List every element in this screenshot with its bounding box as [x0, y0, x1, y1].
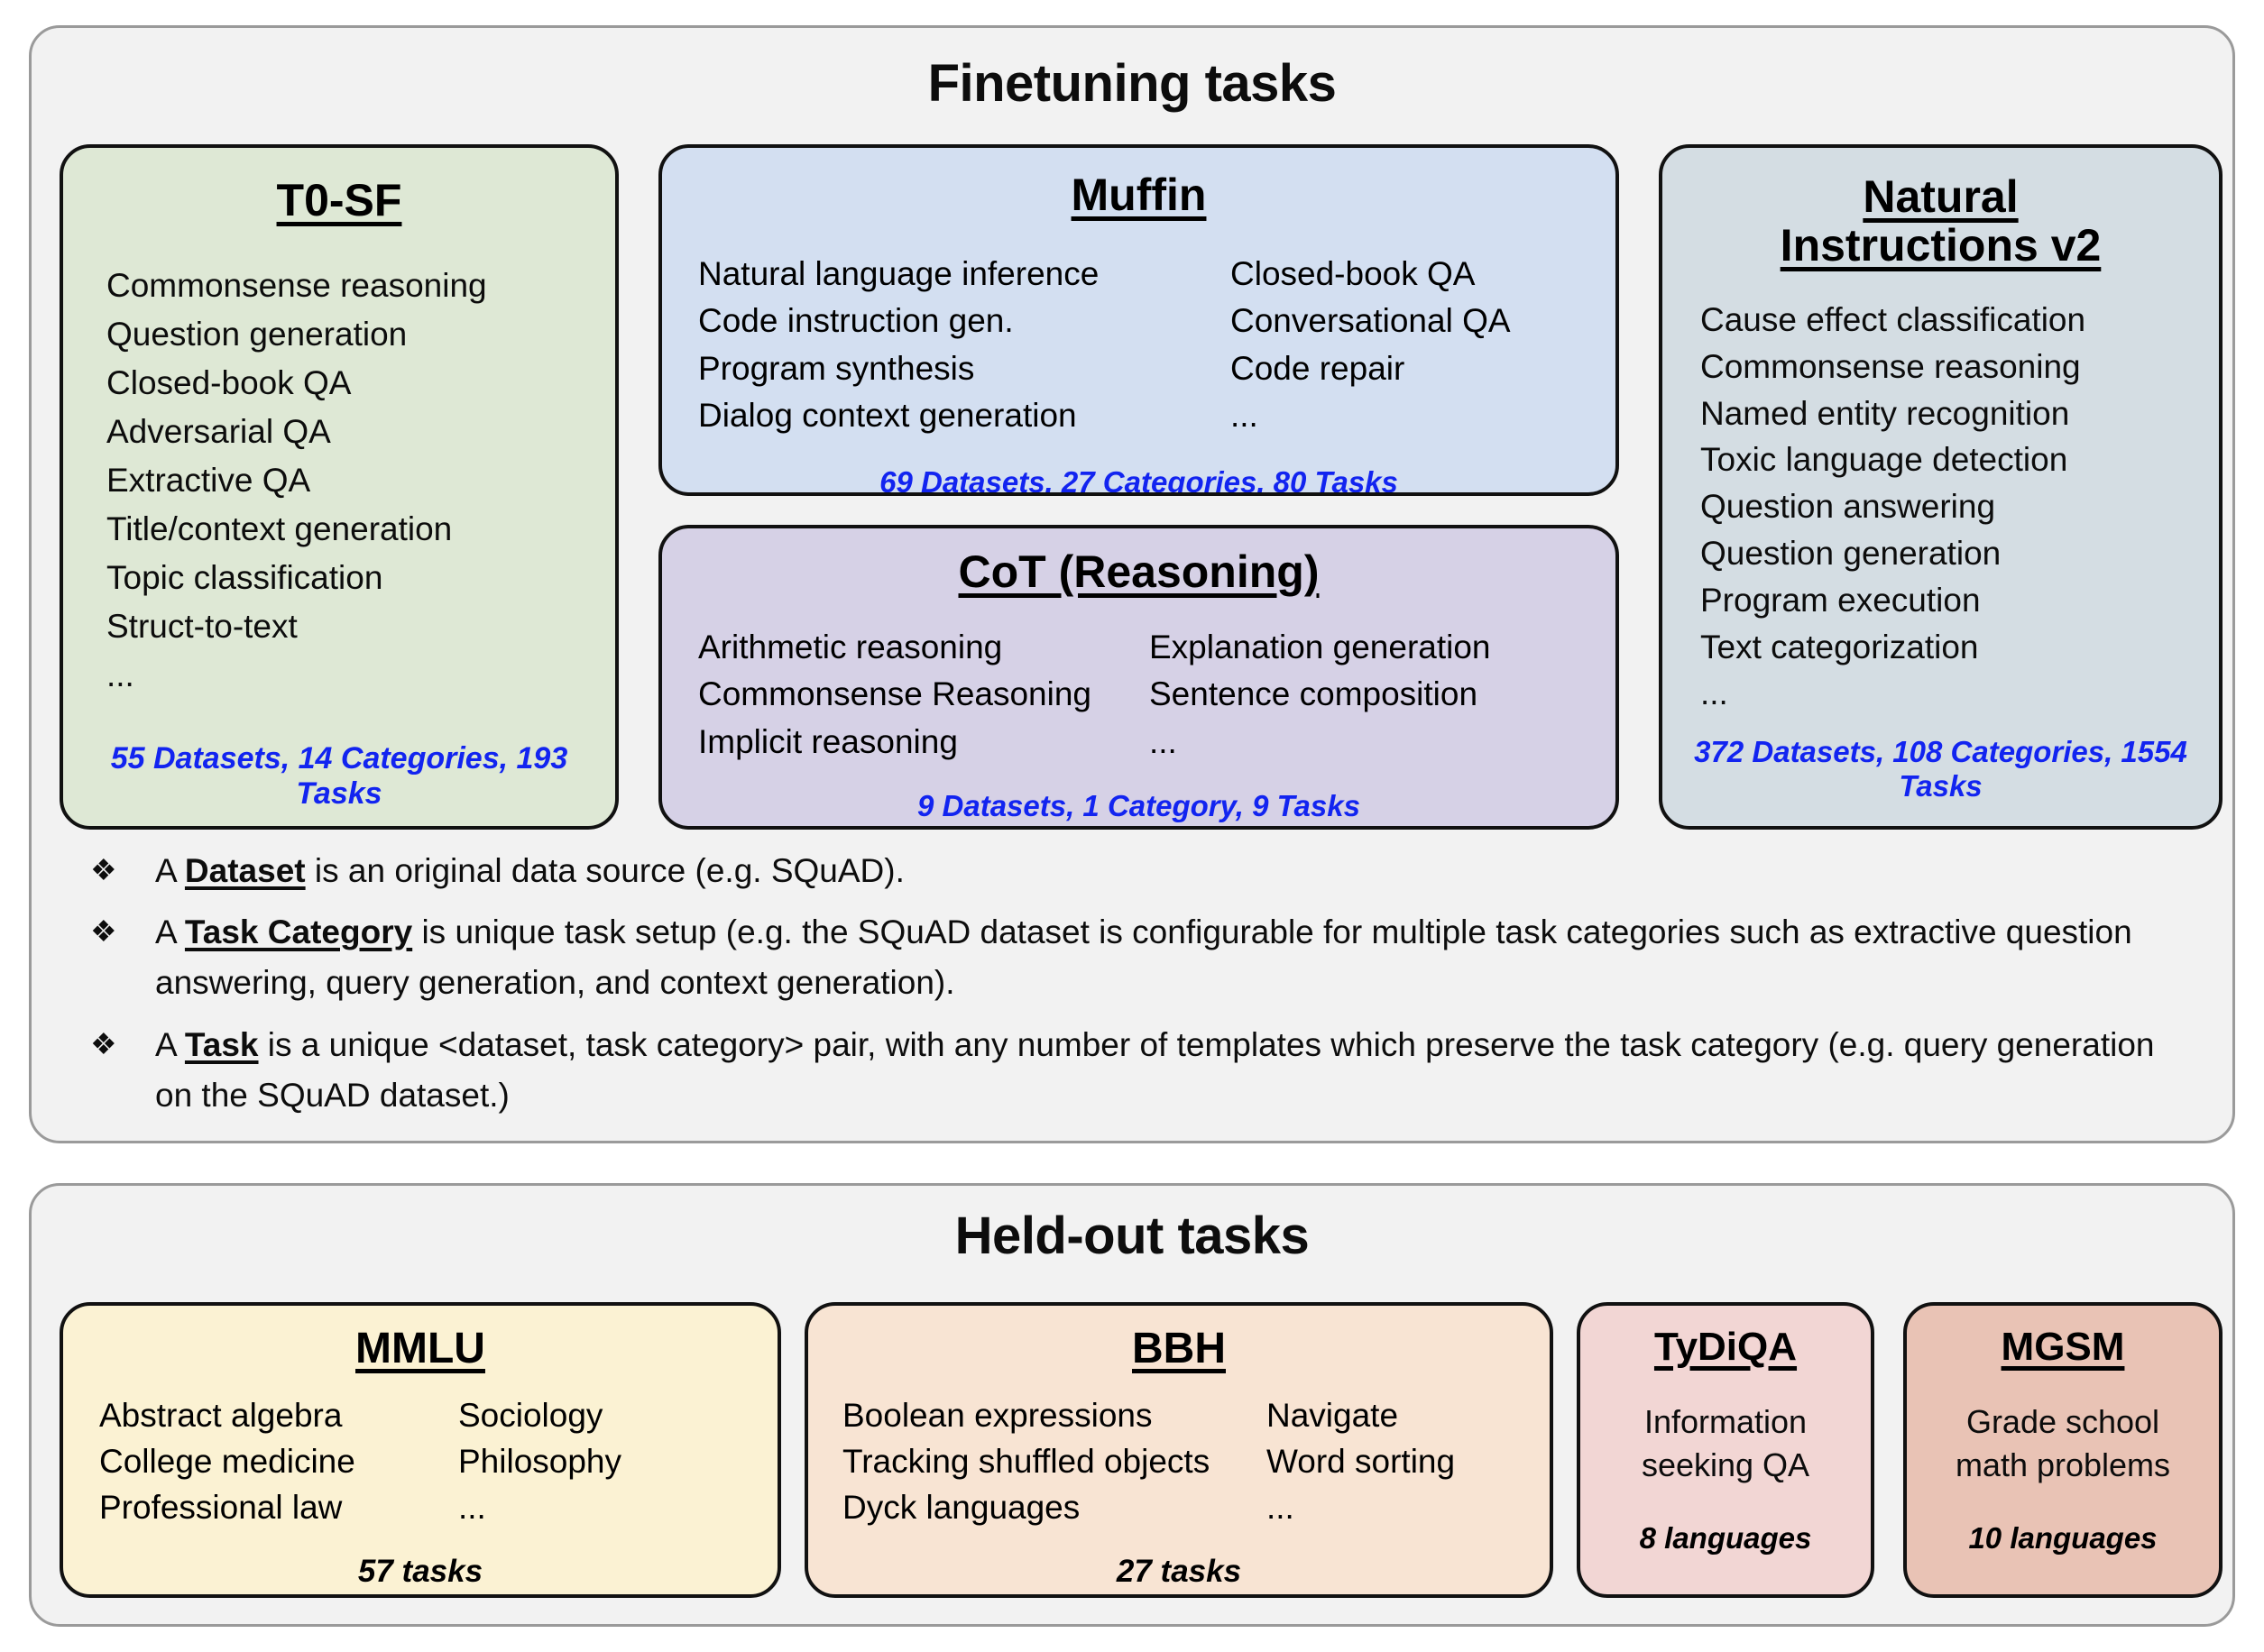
- definition-term: Task: [185, 1026, 259, 1063]
- card-bbh: BBH Boolean expressions Tracking shuffle…: [805, 1302, 1553, 1598]
- list-item: Question answering: [1700, 483, 2219, 530]
- list-item: Closed-book QA: [1230, 251, 1511, 298]
- finetuning-panel-title: Finetuning tasks: [32, 53, 2232, 114]
- column-right: Sociology Philosophy ...: [458, 1393, 621, 1530]
- list-item-ellipsis: ...: [1230, 392, 1511, 440]
- list-item: College medicine: [99, 1439, 458, 1485]
- definition-item-task: ❖ A Task is a unique <dataset, task cate…: [90, 1020, 2174, 1121]
- card-mgsm-stats: 10 languages: [1907, 1521, 2219, 1556]
- card-mmlu: MMLU Abstract algebra College medicine P…: [60, 1302, 781, 1598]
- list-item: Tracking shuffled objects: [842, 1439, 1266, 1485]
- list-item: Program execution: [1700, 577, 2219, 624]
- card-muffin: Muffin Natural language inference Code i…: [658, 144, 1619, 496]
- body-line: seeking QA: [1580, 1444, 1871, 1487]
- list-item: Boolean expressions: [842, 1393, 1266, 1439]
- column-right: Closed-book QA Conversational QA Code re…: [1230, 251, 1511, 440]
- definition-text: A Dataset is an original data source (e.…: [155, 846, 2174, 896]
- list-item: Sentence composition: [1149, 671, 1491, 719]
- card-mgsm: MGSM Grade school math problems 10 langu…: [1903, 1302, 2223, 1598]
- card-tydiqa-stats: 8 languages: [1580, 1521, 1871, 1556]
- definitions-list: ❖ A Dataset is an original data source (…: [90, 846, 2174, 1132]
- list-item: Toxic language detection: [1700, 436, 2219, 483]
- card-tydiqa-body: Information seeking QA: [1580, 1400, 1871, 1487]
- list-item: Question generation: [106, 310, 615, 359]
- list-item: Cause effect classification: [1700, 297, 2219, 344]
- card-t0-sf-item-list: Commonsense reasoning Question generatio…: [106, 262, 615, 700]
- list-item: Implicit reasoning: [698, 719, 1149, 766]
- list-item: Dialog context generation: [698, 392, 1230, 440]
- list-item: Extractive QA: [106, 456, 615, 505]
- list-item: Adversarial QA: [106, 408, 615, 456]
- list-item: Navigate: [1266, 1393, 1455, 1439]
- card-t0-sf-stats: 55 Datasets, 14 Categories, 193 Tasks: [63, 741, 615, 812]
- list-item: Philosophy: [458, 1439, 621, 1485]
- column-left: Arithmetic reasoning Commonsense Reasoni…: [698, 624, 1149, 766]
- card-cot-item-columns: Arithmetic reasoning Commonsense Reasoni…: [698, 624, 1615, 766]
- card-niv2-item-list: Cause effect classification Commonsense …: [1700, 297, 2219, 717]
- card-cot-stats: 9 Datasets, 1 Category, 9 Tasks: [662, 789, 1615, 823]
- definition-text: A Task Category is unique task setup (e.…: [155, 907, 2174, 1008]
- column-left: Natural language inference Code instruct…: [698, 251, 1230, 440]
- card-mmlu-stats: 57 tasks: [63, 1554, 778, 1590]
- list-item: Program synthesis: [698, 345, 1230, 393]
- list-item-ellipsis: ...: [458, 1485, 621, 1531]
- card-mgsm-body: Grade school math problems: [1907, 1400, 2219, 1487]
- card-bbh-item-columns: Boolean expressions Tracking shuffled ob…: [842, 1393, 1550, 1530]
- diamond-bullet-icon: ❖: [90, 907, 155, 1008]
- card-mgsm-title: MGSM: [1907, 1326, 2219, 1368]
- list-item: Commonsense reasoning: [106, 262, 615, 310]
- body-line: Information: [1580, 1400, 1871, 1444]
- list-item: Commonsense reasoning: [1700, 344, 2219, 390]
- list-item: Conversational QA: [1230, 298, 1511, 345]
- list-item: Word sorting: [1266, 1439, 1455, 1485]
- card-cot-reasoning: CoT (Reasoning) Arithmetic reasoning Com…: [658, 525, 1619, 830]
- list-item: Title/context generation: [106, 505, 615, 554]
- list-item: Professional law: [99, 1485, 458, 1531]
- diamond-bullet-icon: ❖: [90, 1020, 155, 1121]
- card-cot-title: CoT (Reasoning): [662, 548, 1615, 597]
- list-item: Struct-to-text: [106, 602, 615, 651]
- list-item: Natural language inference: [698, 251, 1230, 298]
- body-line: Grade school: [1907, 1400, 2219, 1444]
- body-line: math problems: [1907, 1444, 2219, 1487]
- card-muffin-title: Muffin: [662, 171, 1615, 220]
- card-tydiqa-title: TyDiQA: [1580, 1326, 1871, 1368]
- definition-term: Task Category: [185, 913, 412, 950]
- list-item: Dyck languages: [842, 1485, 1266, 1531]
- list-item: Code instruction gen.: [698, 298, 1230, 345]
- list-item: Commonsense Reasoning: [698, 671, 1149, 719]
- list-item: Explanation generation: [1149, 624, 1491, 672]
- card-niv2-stats: 372 Datasets, 108 Categories, 1554 Tasks: [1662, 735, 2219, 804]
- figure-root: Finetuning tasks T0-SF Commonsense reaso…: [0, 0, 2264, 1652]
- list-item: Topic classification: [106, 554, 615, 602]
- card-t0-sf-title: T0-SF: [63, 177, 615, 225]
- card-natural-instructions-v2: Natural Instructions v2 Cause effect cla…: [1659, 144, 2223, 830]
- definition-item-dataset: ❖ A Dataset is an original data source (…: [90, 846, 2174, 896]
- list-item: Named entity recognition: [1700, 390, 2219, 437]
- definition-text: A Task is a unique <dataset, task catego…: [155, 1020, 2174, 1121]
- definition-item-task-category: ❖ A Task Category is unique task setup (…: [90, 907, 2174, 1008]
- card-tydiqa: TyDiQA Information seeking QA 8 language…: [1577, 1302, 1874, 1598]
- card-mmlu-title: MMLU: [63, 1326, 778, 1372]
- diamond-bullet-icon: ❖: [90, 846, 155, 896]
- list-item: Closed-book QA: [106, 359, 615, 408]
- list-item-ellipsis: ...: [1149, 719, 1491, 766]
- card-t0-sf: T0-SF Commonsense reasoning Question gen…: [60, 144, 619, 830]
- list-item-ellipsis: ...: [106, 651, 615, 700]
- card-muffin-stats: 69 Datasets, 27 Categories, 80 Tasks: [662, 465, 1615, 496]
- held-out-panel-title: Held-out tasks: [32, 1206, 2232, 1266]
- list-item: Text categorization: [1700, 624, 2219, 671]
- column-left: Boolean expressions Tracking shuffled ob…: [842, 1393, 1266, 1530]
- card-mmlu-item-columns: Abstract algebra College medicine Profes…: [99, 1393, 778, 1530]
- card-bbh-title: BBH: [808, 1326, 1550, 1372]
- card-muffin-item-columns: Natural language inference Code instruct…: [698, 251, 1615, 440]
- list-item: Question generation: [1700, 530, 2219, 577]
- list-item: Arithmetic reasoning: [698, 624, 1149, 672]
- column-left: Abstract algebra College medicine Profes…: [99, 1393, 458, 1530]
- card-bbh-stats: 27 tasks: [808, 1554, 1550, 1590]
- list-item-ellipsis: ...: [1266, 1485, 1455, 1531]
- card-niv2-title: Natural Instructions v2: [1662, 173, 2219, 270]
- list-item-ellipsis: ...: [1700, 670, 2219, 717]
- column-right: Explanation generation Sentence composit…: [1149, 624, 1491, 766]
- column-right: Navigate Word sorting ...: [1266, 1393, 1455, 1530]
- definition-term: Dataset: [185, 852, 306, 889]
- list-item: Sociology: [458, 1393, 621, 1439]
- list-item: Code repair: [1230, 345, 1511, 393]
- list-item: Abstract algebra: [99, 1393, 458, 1439]
